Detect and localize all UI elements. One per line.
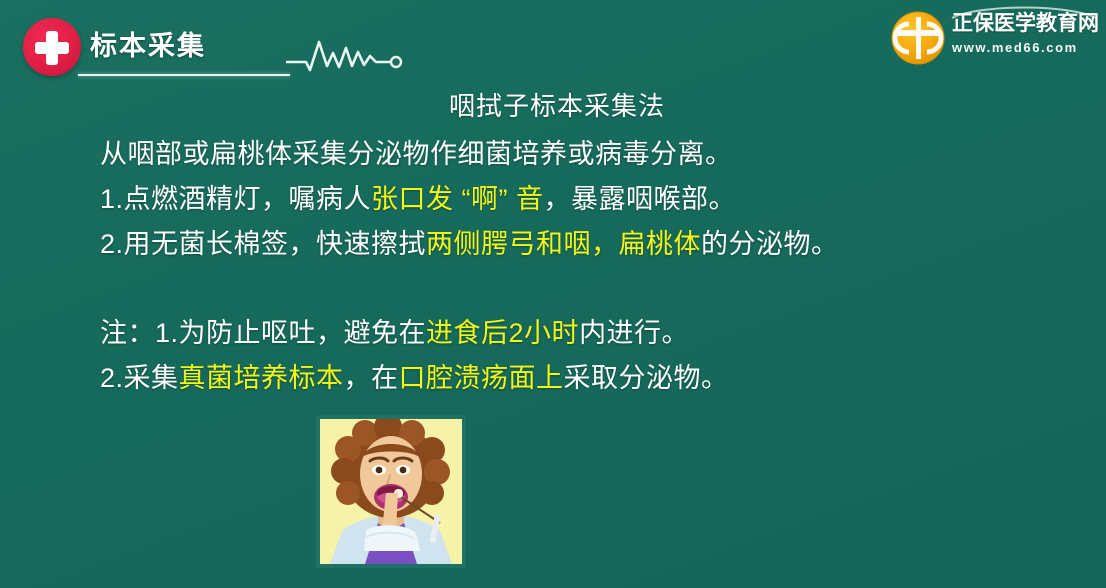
brand-logo: 正保医学教育网 www.med66.com — [876, 6, 1094, 72]
body-text: 注：1.为防止呕吐，避免在 — [100, 318, 426, 348]
body-text: ，暴露咽喉部。 — [544, 184, 737, 214]
content-spacer — [100, 267, 1106, 311]
page-title: 咽拭子标本采集法 — [0, 86, 1106, 126]
cross-bar-vertical — [46, 31, 58, 65]
highlight-text: 进食后2小时 — [426, 318, 579, 348]
header-divider — [78, 74, 290, 76]
content-line-note-1: 注：1.为防止呕吐，避免在进食后2小时内进行。 — [100, 311, 1106, 356]
highlight-text: 两侧腭弓和咽，扁桃体 — [426, 229, 701, 259]
content-line-step-1: 1.点燃酒精灯，嘱病人张口发 “啊” 音，暴露咽喉部。 — [100, 177, 1106, 222]
body-text: 1.点燃酒精灯，嘱病人 — [100, 184, 371, 214]
content-line-note-2: 2.采集真菌培养标本，在口腔溃疡面上采取分泌物。 — [100, 356, 1106, 401]
body-text: 的分泌物。 — [701, 229, 839, 259]
brand-text-block: 正保医学教育网 www.med66.com — [952, 11, 1092, 57]
content-line-intro: 从咽部或扁桃体采集分泌物作细菌培养或病毒分离。 — [100, 132, 1106, 177]
highlight-text: 真菌培养标本 — [179, 363, 344, 393]
brand-url: www.med66.com — [952, 39, 1092, 57]
med66-logo-icon — [890, 10, 946, 66]
highlight-text: 张口发 “啊” 音 — [371, 184, 544, 214]
body-text: ，在 — [344, 363, 399, 393]
header-title: 标本采集 — [90, 24, 206, 63]
slide-header: 标本采集 — [0, 0, 1106, 86]
slide-root: 标本采集 — [0, 0, 1106, 588]
ecg-waveform-icon — [286, 36, 406, 78]
slide-content: 咽拭子标本采集法 从咽部或扁桃体采集分泌物作细菌培养或病毒分离。1.点燃酒精灯，… — [0, 86, 1106, 401]
body-text: 采取分泌物。 — [564, 363, 729, 393]
body-text: 2.采集 — [100, 363, 179, 393]
throat-swab-illustration — [316, 415, 466, 568]
red-cross-icon — [23, 18, 81, 76]
body-text: 2.用无菌长棉签，快速擦拭 — [100, 229, 426, 259]
body-text: 从咽部或扁桃体采集分泌物作细菌培养或病毒分离。 — [100, 139, 733, 169]
body-text: 内进行。 — [579, 318, 689, 348]
highlight-text: 口腔溃疡面上 — [399, 363, 564, 393]
brand-name-cn: 正保医学教育网 — [952, 11, 1092, 37]
content-lines: 从咽部或扁桃体采集分泌物作细菌培养或病毒分离。1.点燃酒精灯，嘱病人张口发 “啊… — [0, 132, 1106, 401]
content-line-step-2: 2.用无菌长棉签，快速擦拭两侧腭弓和咽，扁桃体的分泌物。 — [100, 222, 1106, 267]
